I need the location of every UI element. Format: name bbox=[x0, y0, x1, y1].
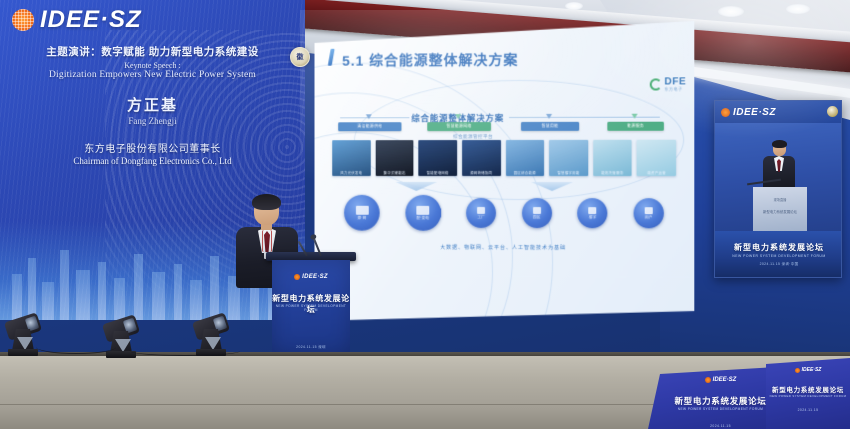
node-circle-0: 源·网 bbox=[344, 195, 380, 231]
live-camera-feed: 现场直播 新型电力系统发展论坛 bbox=[715, 123, 842, 233]
speaker-title-cn: 东方电子股份有限公司董事长 bbox=[0, 140, 305, 155]
thumbnail-caption: 智能配电网络 bbox=[419, 170, 457, 175]
node-icon bbox=[355, 205, 368, 214]
slide-title: 5.1 综合能源整体解决方案 bbox=[342, 50, 518, 71]
feed-podium-title: 新型电力系统发展论坛 bbox=[753, 209, 807, 214]
node-circle-5: 用户 bbox=[634, 198, 664, 228]
category-chip-1: 智慧能源网络 bbox=[427, 122, 491, 131]
left-screen-content: 主题演讲：数字赋能 助力新型电力系统建设 Keynote Speech : Di… bbox=[0, 44, 305, 166]
node-icon bbox=[589, 207, 597, 214]
keynote-topic-en-line2: Digitization Empowers New Electric Power… bbox=[0, 70, 305, 80]
idee-dotmark-icon bbox=[294, 274, 300, 280]
dfe-logo-sub: 东方电子 bbox=[664, 87, 686, 91]
dfe-ring-icon bbox=[649, 78, 661, 90]
idee-wordmark: IDEE·SZ bbox=[713, 377, 737, 383]
podium-date: 2024.11.15 深圳 bbox=[272, 344, 350, 349]
node-label: 园区 bbox=[533, 215, 541, 220]
thumbnail-caption: 能效托管服务 bbox=[593, 170, 632, 175]
category-arrow-icon bbox=[455, 114, 461, 119]
ceiling-downlight bbox=[786, 4, 810, 14]
category-chip-3: 能源服务 bbox=[607, 122, 664, 131]
speaker-title-en: Chairman of Dongfang Electronics Co., Lt… bbox=[0, 156, 305, 166]
thumbnail-caption: 园区综合能源 bbox=[505, 170, 544, 175]
forum-emblem-badge bbox=[827, 106, 838, 117]
feed-speaker-hair bbox=[772, 140, 787, 148]
feed-podium-logo: 现场直播 bbox=[753, 197, 807, 202]
node-icon bbox=[416, 205, 429, 214]
speaker-name-en: Fang Zhengji bbox=[0, 116, 305, 126]
right-screen-header: IDEE·SZ bbox=[715, 101, 842, 123]
node-circle-4: 楼宇 bbox=[578, 198, 608, 228]
center-projection-screen: 5.1 综合能源整体解决方案 DFE 东方电子 综合能源整体解决方案 综合能源管… bbox=[315, 21, 695, 323]
ceiling-downlight bbox=[718, 6, 744, 17]
node-icon bbox=[645, 207, 653, 214]
left-screen-logo: IDEE·SZ bbox=[12, 6, 142, 34]
thumbnail-caption: 源网荷储协同 bbox=[462, 170, 501, 175]
right-live-feed-screen: IDEE·SZ 现场直播 新型电力系统发展论坛 新型电力系统发展论坛 NEW P… bbox=[714, 100, 842, 278]
podium-front-panel: IDEE·SZ 新型电力系统发展论坛 NEW POWER SYSTEM DEVE… bbox=[272, 260, 350, 356]
idee-wordmark: IDEE·SZ bbox=[802, 367, 822, 373]
category-chip-2: 智慧用能 bbox=[521, 122, 579, 131]
panel-date: 2024.11.15 bbox=[766, 408, 850, 412]
banner-title-en: NEW POWER SYSTEM DEVELOPMENT FORUM bbox=[732, 254, 825, 258]
node-label: 源·网 bbox=[357, 215, 366, 220]
category-label: 智慧能源网络 bbox=[447, 124, 472, 129]
node-label: 工厂 bbox=[477, 214, 485, 219]
thumbnail-3: 源网荷储协同 bbox=[462, 140, 501, 176]
thumbnail-6: 能效托管服务 bbox=[593, 140, 632, 176]
panel-logo: IDEE·SZ bbox=[766, 367, 850, 373]
feed-speaker-figure bbox=[762, 141, 796, 191]
speaker-hair bbox=[252, 194, 281, 210]
node-label: 用户 bbox=[645, 215, 653, 220]
node-icon bbox=[533, 207, 541, 214]
thumbnail-1: 集中式储能站 bbox=[375, 140, 413, 176]
category-row: 清洁能源供给 智慧能源网络 智慧用能 能源服务 bbox=[332, 122, 676, 137]
keynote-topic-en-line1: Keynote Speech : bbox=[0, 61, 305, 70]
right-screen-banner: 新型电力系统发展论坛 NEW POWER SYSTEM DEVELOPMENT … bbox=[715, 231, 842, 277]
stage-cable bbox=[36, 340, 116, 354]
podium-title-en: NEW POWER SYSTEM DEVELOPMENT FORUM bbox=[272, 304, 350, 312]
thumbnail-7: 碳资产运营 bbox=[637, 140, 676, 176]
node-icon bbox=[477, 206, 485, 213]
forum-emblem-badge: 徽 bbox=[290, 47, 310, 67]
node-circle-2: 工厂 bbox=[466, 198, 496, 228]
thumbnail-4: 园区综合能源 bbox=[505, 140, 544, 176]
thumbnail-5: 智慧楼宇用能 bbox=[549, 140, 588, 176]
category-label: 智慧用能 bbox=[542, 124, 559, 129]
stage-cable bbox=[130, 346, 240, 356]
idee-wordmark: IDEE·SZ bbox=[733, 107, 776, 118]
badge-glyph: 徽 bbox=[297, 52, 304, 62]
speaker-podium: IDEE·SZ 新型电力系统发展论坛 NEW POWER SYSTEM DEVE… bbox=[272, 252, 350, 356]
banner-title-cn: 新型电力系统发展论坛 bbox=[734, 242, 824, 253]
category-label: 能源服务 bbox=[627, 124, 644, 129]
node-circle-row: 源·网 配·变电 工厂 园区 楼宇 用户 bbox=[344, 198, 664, 233]
category-arrow-icon bbox=[366, 114, 372, 119]
thumbnail-caption: 风力光伏发电 bbox=[332, 170, 370, 175]
idee-wordmark: IDEE·SZ bbox=[302, 274, 328, 280]
thumbnail-2: 智能配电网络 bbox=[419, 140, 457, 176]
idee-dotmark-icon bbox=[795, 368, 800, 373]
category-chip-0: 清洁能源供给 bbox=[338, 122, 401, 131]
node-label: 楼宇 bbox=[589, 215, 597, 220]
thumbnail-row: 风力光伏发电 集中式储能站 智能配电网络 源网荷储协同 园区综合能源 智慧楼宇用… bbox=[332, 140, 676, 176]
idee-dotmark-icon bbox=[721, 108, 730, 117]
panel-title-en: NEW POWER SYSTEM DEVELOPMENT FORUM bbox=[766, 394, 850, 398]
chevron-down-icon bbox=[396, 182, 438, 191]
thumbnail-caption: 智慧楼宇用能 bbox=[549, 170, 588, 175]
speaker-lanyard bbox=[262, 230, 272, 252]
node-label: 配·变电 bbox=[417, 215, 430, 220]
podium-logo: IDEE·SZ bbox=[272, 274, 350, 280]
speaker-name-cn: 方正基 bbox=[0, 94, 305, 115]
category-arrow-icon bbox=[632, 114, 638, 119]
dfe-corner-logo: DFE 东方电子 bbox=[649, 77, 686, 91]
idee-wordmark: IDEE·SZ bbox=[40, 6, 142, 34]
thumbnail-0: 风力光伏发电 bbox=[332, 140, 370, 176]
category-arrow-icon bbox=[546, 114, 552, 119]
slide-footer-note: 大数据、物联网、云平台、人工智能技术为基础 bbox=[315, 243, 695, 251]
chevron-row bbox=[332, 182, 676, 196]
panel-title-cn: 新型电力系统发展论坛 bbox=[766, 384, 850, 394]
idee-dotmark-icon bbox=[12, 9, 34, 31]
category-label: 清洁能源供给 bbox=[357, 124, 382, 129]
diagram-heading-rule-left bbox=[340, 117, 409, 118]
thumbnail-caption: 碳资产运营 bbox=[637, 170, 676, 175]
thumbnail-caption: 集中式储能站 bbox=[375, 170, 413, 175]
node-circle-1: 配·变电 bbox=[405, 195, 441, 231]
light-base bbox=[8, 349, 38, 356]
feed-podium: 现场直播 新型电力系统发展论坛 bbox=[753, 187, 807, 233]
node-circle-3: 园区 bbox=[522, 198, 552, 228]
chevron-down-icon bbox=[531, 182, 573, 191]
banner-date: 2024.11.15 深圳·中国 bbox=[760, 261, 799, 266]
idee-dotmark-icon bbox=[705, 377, 711, 383]
conference-stage-scene: IDEE·SZ 主题演讲：数字赋能 助力新型电力系统建设 Keynote Spe… bbox=[0, 0, 850, 429]
keynote-topic-cn: 主题演讲：数字赋能 助力新型电力系统建设 bbox=[0, 44, 305, 59]
foreground-branded-panel-1: IDEE·SZ 新型电力系统发展论坛 NEW POWER SYSTEM DEVE… bbox=[766, 358, 850, 429]
